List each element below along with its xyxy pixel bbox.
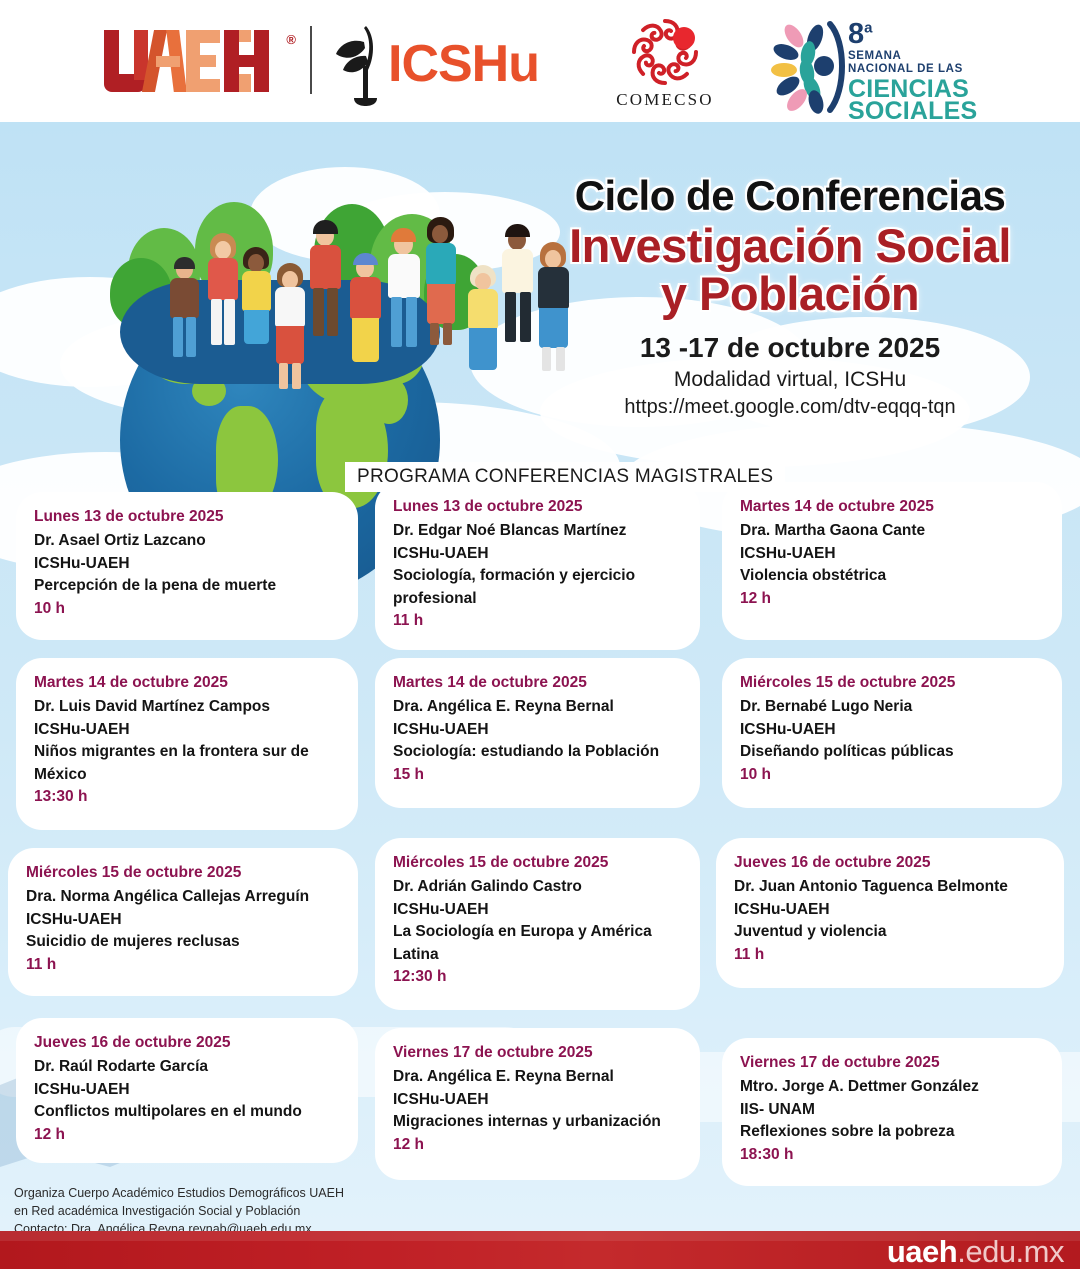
organizer-line-2: en Red académica Investigación Social y …: [14, 1203, 344, 1221]
session-time: 12 h: [740, 588, 1044, 610]
session-time: 18:30 h: [740, 1144, 1044, 1166]
session-time: 10 h: [34, 598, 340, 620]
session-time: 13:30 h: [34, 786, 340, 808]
comecso-sun-icon: [600, 18, 730, 90]
session-affiliation: ICSHu-UAEH: [393, 1089, 682, 1111]
session-affiliation: IIS- UNAM: [740, 1099, 1044, 1121]
session-date: Martes 14 de octubre 2025: [393, 672, 682, 694]
session-card[interactable]: Miércoles 15 de octubre 2025 Dr. Adrián …: [375, 838, 700, 1010]
session-date: Jueves 16 de octubre 2025: [34, 1032, 340, 1054]
poster-root: ® ICSHu: [0, 0, 1080, 1269]
logo-bar: ® ICSHu: [0, 0, 1080, 122]
event-dates: 13 -17 de octubre 2025: [520, 332, 1060, 364]
session-date: Viernes 17 de octubre 2025: [393, 1042, 682, 1064]
session-time: 12 h: [393, 1134, 682, 1156]
semana-edition-number: 8a: [848, 20, 872, 49]
session-date: Miércoles 15 de octubre 2025: [26, 862, 340, 884]
session-card[interactable]: Lunes 13 de octubre 2025 Dr. Asael Ortiz…: [16, 492, 358, 640]
session-topic: Reflexiones sobre la pobreza: [740, 1121, 1044, 1143]
session-topic: Niños migrantes en la frontera sur de Mé…: [34, 741, 340, 786]
comecso-wordmark: COMECSO: [600, 90, 730, 110]
session-speaker: Dr. Edgar Noé Blancas Martínez: [393, 520, 682, 542]
icshu-logo: ICSHu: [330, 22, 560, 102]
session-speaker: Dr. Luis David Martínez Campos: [34, 696, 340, 718]
session-card[interactable]: Martes 14 de octubre 2025 Dr. Luis David…: [16, 658, 358, 830]
meeting-link[interactable]: https://meet.google.com/dtv-eqqq-tqn: [520, 396, 1060, 419]
session-speaker: Dr. Asael Ortiz Lazcano: [34, 530, 340, 552]
session-speaker: Dra. Norma Angélica Callejas Arreguín: [26, 886, 340, 908]
session-date: Lunes 13 de octubre 2025: [34, 506, 340, 528]
session-date: Lunes 13 de octubre 2025: [393, 496, 682, 518]
session-time: 11 h: [26, 954, 340, 976]
session-card[interactable]: Miércoles 15 de octubre 2025 Dra. Norma …: [8, 848, 358, 996]
semana-line-4: SOCIALES: [848, 98, 977, 124]
session-card[interactable]: Martes 14 de octubre 2025 Dra. Martha Ga…: [722, 482, 1062, 640]
uaeh-logo: ®: [104, 30, 284, 92]
kicker-text: Ciclo de Conferencias: [520, 172, 1060, 220]
session-speaker: Dr. Raúl Rodarte García: [34, 1056, 340, 1078]
session-speaker: Mtro. Jorge A. Dettmer González: [740, 1076, 1044, 1098]
session-card[interactable]: Jueves 16 de octubre 2025 Dr. Juan Anton…: [716, 838, 1064, 988]
session-card[interactable]: Viernes 17 de octubre 2025 Dra. Angélica…: [375, 1028, 700, 1180]
session-topic: Sociología, formación y ejercicio profes…: [393, 565, 682, 610]
session-date: Jueves 16 de octubre 2025: [734, 852, 1046, 874]
icshu-wordmark: ICSHu: [388, 34, 539, 94]
session-card[interactable]: Martes 14 de octubre 2025 Dra. Angélica …: [375, 658, 700, 808]
session-affiliation: ICSHu-UAEH: [740, 719, 1044, 741]
organizer-line-1: Organiza Cuerpo Académico Estudios Demog…: [14, 1185, 344, 1203]
session-topic: Conflictos multipolares en el mundo: [34, 1101, 340, 1123]
session-affiliation: ICSHu-UAEH: [734, 899, 1046, 921]
landmass: [370, 376, 408, 424]
session-speaker: Dr. Juan Antonio Taguenca Belmonte: [734, 876, 1046, 898]
registered-trademark-icon: ®: [286, 32, 296, 47]
comecso-logo: COMECSO: [600, 18, 730, 118]
session-time: 10 h: [740, 764, 1044, 786]
session-time: 15 h: [393, 764, 682, 786]
session-speaker: Dr. Bernabé Lugo Neria: [740, 696, 1044, 718]
session-topic: Violencia obstétrica: [740, 565, 1044, 587]
session-affiliation: ICSHu-UAEH: [393, 719, 682, 741]
session-date: Martes 14 de octubre 2025: [740, 496, 1044, 518]
semana-line-2: NACIONAL DE LAS: [848, 63, 963, 75]
session-speaker: Dra. Martha Gaona Cante: [740, 520, 1044, 542]
session-topic: Juventud y violencia: [734, 921, 1046, 943]
session-topic: Sociología: estudiando la Población: [393, 741, 682, 763]
semana-petals-icon: [768, 18, 846, 114]
session-card[interactable]: Jueves 16 de octubre 2025 Dr. Raúl Rodar…: [16, 1018, 358, 1163]
session-affiliation: ICSHu-UAEH: [34, 719, 340, 741]
title-line-1: Investigación Social: [520, 222, 1060, 270]
session-card[interactable]: Miércoles 15 de octubre 2025 Dr. Bernabé…: [722, 658, 1062, 808]
program-banner: PROGRAMA CONFERENCIAS MAGISTRALES: [345, 462, 785, 492]
logo-divider: [310, 26, 312, 94]
session-topic: Suicidio de mujeres reclusas: [26, 931, 340, 953]
semana-line-1: SEMANA: [848, 50, 901, 62]
uaeh-letterforms: ®: [104, 30, 284, 92]
plant-icon: [330, 22, 394, 108]
session-speaker: Dr. Adrián Galindo Castro: [393, 876, 682, 898]
session-affiliation: ICSHu-UAEH: [34, 553, 340, 575]
site-suffix: .edu.mx: [957, 1234, 1064, 1269]
session-date: Miércoles 15 de octubre 2025: [393, 852, 682, 874]
title-block: Ciclo de Conferencias Investigación Soci…: [520, 172, 1060, 419]
title-line-2: y Población: [520, 270, 1060, 318]
session-affiliation: ICSHu-UAEH: [740, 543, 1044, 565]
session-cards-grid: Lunes 13 de octubre 2025 Dr. Asael Ortiz…: [0, 480, 1080, 1200]
session-affiliation: ICSHu-UAEH: [34, 1079, 340, 1101]
site-name: uaeh: [887, 1234, 957, 1269]
session-card[interactable]: Lunes 13 de octubre 2025 Dr. Edgar Noé B…: [375, 482, 700, 650]
session-topic: La Sociología en Europa y América Latina: [393, 921, 682, 966]
event-modality: Modalidad virtual, ICSHu: [520, 368, 1060, 392]
session-affiliation: ICSHu-UAEH: [393, 899, 682, 921]
session-time: 11 h: [393, 610, 682, 632]
session-time: 12 h: [34, 1124, 340, 1146]
session-time: 12:30 h: [393, 966, 682, 988]
session-speaker: Dra. Angélica E. Reyna Bernal: [393, 696, 682, 718]
session-date: Miércoles 15 de octubre 2025: [740, 672, 1044, 694]
session-date: Martes 14 de octubre 2025: [34, 672, 340, 694]
session-topic: Diseñando políticas públicas: [740, 741, 1044, 763]
session-card[interactable]: Viernes 17 de octubre 2025 Mtro. Jorge A…: [722, 1038, 1062, 1186]
session-affiliation: ICSHu-UAEH: [26, 909, 340, 931]
session-speaker: Dra. Angélica E. Reyna Bernal: [393, 1066, 682, 1088]
session-affiliation: ICSHu-UAEH: [393, 543, 682, 565]
uaeh-website-url[interactable]: uaeh.edu.mx: [887, 1234, 1064, 1269]
session-time: 11 h: [734, 944, 1046, 966]
session-topic: Percepción de la pena de muerte: [34, 575, 340, 597]
semana-nacional-logo: 8a SEMANA NACIONAL DE LAS CIENCIAS SOCIA…: [768, 18, 978, 116]
session-date: Viernes 17 de octubre 2025: [740, 1052, 1044, 1074]
session-topic: Migraciones internas y urbanización: [393, 1111, 682, 1133]
